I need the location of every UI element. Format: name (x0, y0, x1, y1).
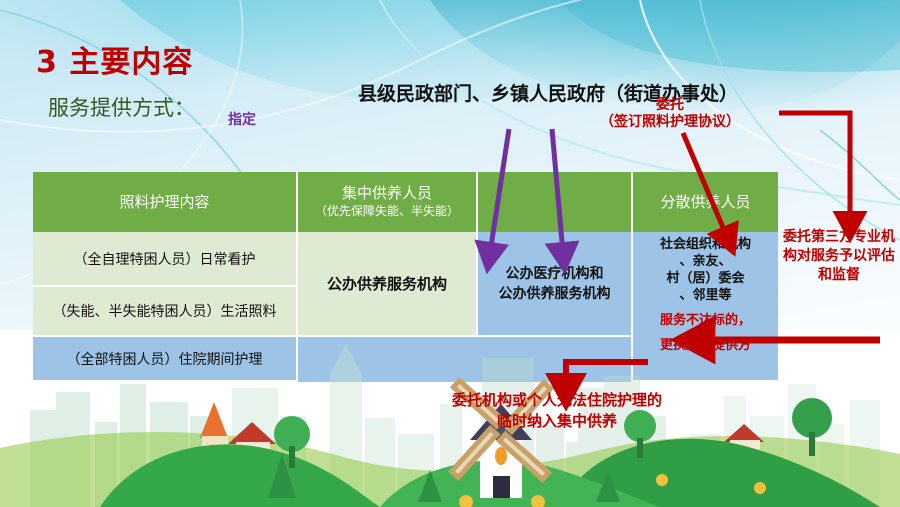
temporary-care-arrow (566, 362, 648, 386)
slide-canvas: 3 主要内容 服务提供方式： 县级民政部门、乡镇人民政府（街道办事处） 指定 委… (0, 0, 900, 507)
assign-arrow-right (552, 129, 563, 253)
evaluation-arrow-elbow (779, 113, 850, 222)
evaluation-annotation: 委托第三方专业机构对服务予以评估和监督 (780, 228, 898, 285)
entrust-arrow-diagonal (683, 133, 727, 237)
flow-arrows (0, 0, 900, 507)
temporary-care-annotation: 委托机构或个人无法住院护理的临时纳入集中供养 (452, 390, 662, 432)
assign-arrow-left (490, 129, 509, 253)
